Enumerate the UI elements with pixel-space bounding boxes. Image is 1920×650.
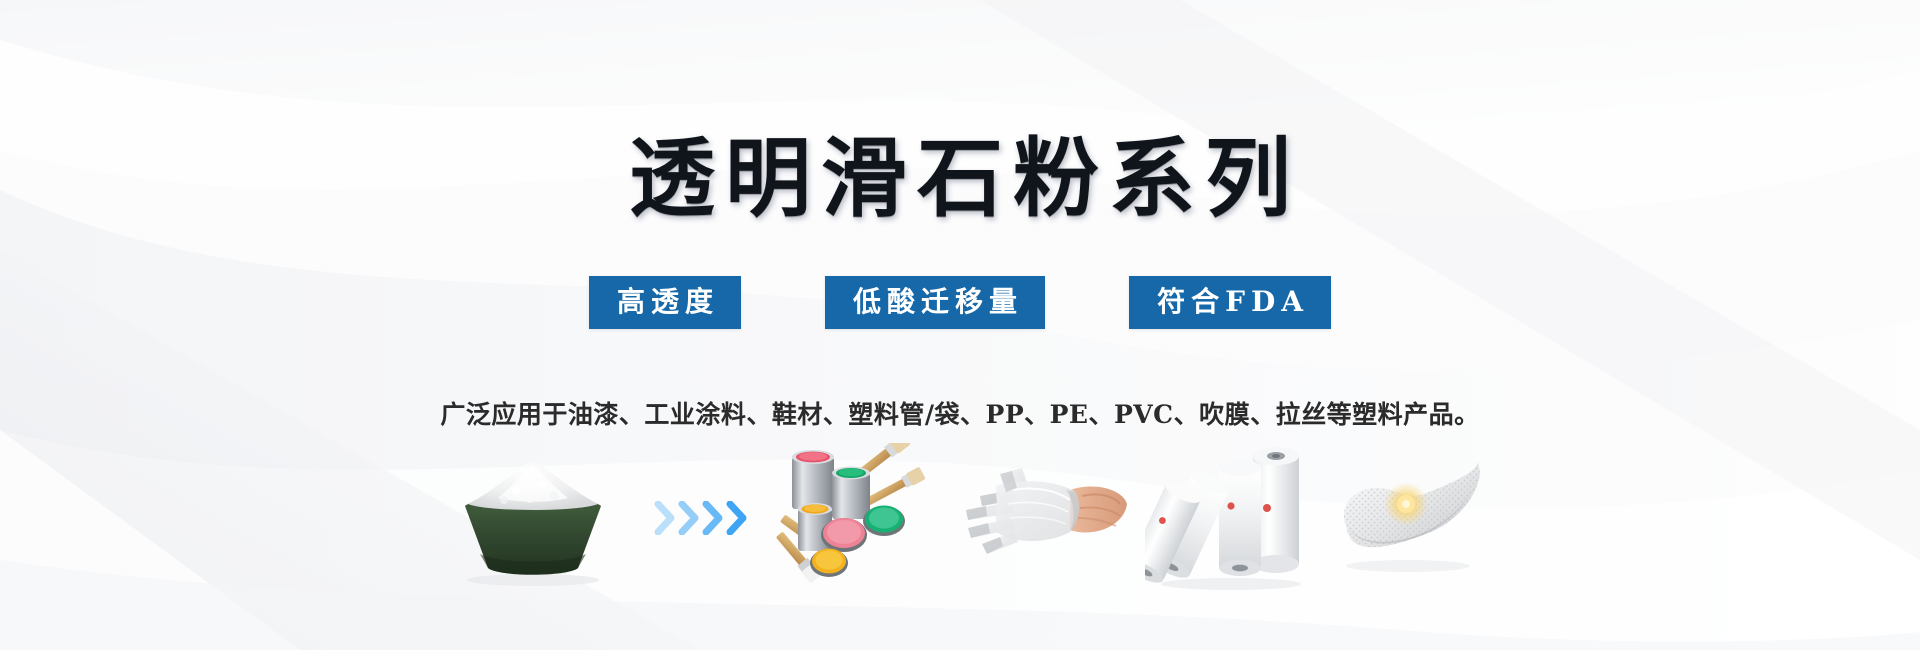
feature-badge-list: 高透度 低酸迁移量 符合FDA [0, 276, 1920, 329]
banner-title: 透明滑石粉系列 [0, 136, 1920, 222]
paint-cans-image [774, 443, 934, 593]
chevron-right-icon [726, 501, 748, 535]
plastic-film-rolls-image [1145, 446, 1310, 591]
feature-badge-high-transparency[interactable]: 高透度 [589, 276, 741, 329]
banner-description: 广泛应用于油漆、工业涂料、鞋材、塑料管/袋、PP、PE、PVC、吹膜、拉丝等塑料… [0, 399, 1920, 432]
feature-badge-fda-compliant[interactable]: 符合FDA [1129, 276, 1331, 329]
plastic-glove-hand-image [952, 456, 1127, 581]
product-banner: 透明滑石粉系列 高透度 低酸迁移量 符合FDA 广泛应用于油漆、工业涂料、鞋材、… [0, 0, 1920, 650]
chevron-right-icon [678, 501, 700, 535]
chevron-right-icon [654, 501, 676, 535]
chevron-right-icon [702, 501, 724, 535]
process-arrow-group [654, 501, 748, 535]
feature-badge-low-acid-migration[interactable]: 低酸迁移量 [825, 276, 1045, 329]
product-image-strip [0, 428, 1920, 608]
shoe-sole-image [1328, 458, 1483, 578]
talc-powder-bowl-image [438, 448, 628, 588]
